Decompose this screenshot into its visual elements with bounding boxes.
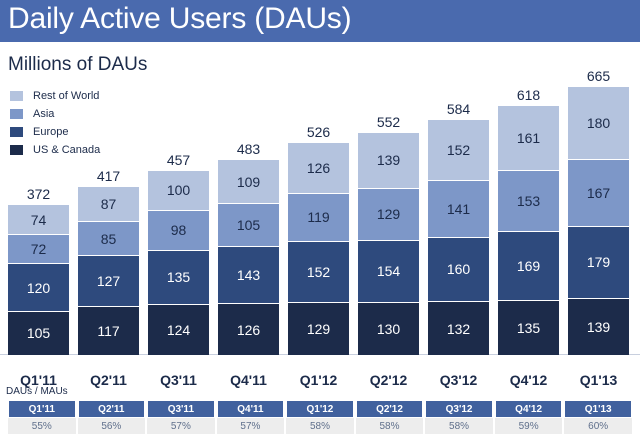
bar-segment: 135	[498, 301, 559, 355]
bar-segment: 169	[498, 232, 559, 300]
bar-total-label: 665	[568, 68, 629, 84]
bar-stack: 180167179139	[568, 87, 629, 355]
bar-segment: 87	[78, 187, 139, 222]
bar-stack: 8785127117	[78, 187, 139, 355]
x-axis-tick-label: Q3'12	[428, 372, 489, 388]
bar-segment-value: 139	[587, 320, 610, 334]
bar-segment-value: 87	[101, 197, 117, 211]
bar-group: 3727472120105	[8, 42, 69, 355]
bar-segment: 160	[428, 238, 489, 302]
bar-segment: 72	[8, 235, 69, 264]
table-cell-ratio: 57%	[217, 418, 285, 434]
bar-segment-value: 152	[307, 265, 330, 279]
x-axis-tick-label: Q1'12	[288, 372, 349, 388]
bar-segment-value: 120	[27, 281, 50, 295]
bar-segment-value: 129	[377, 207, 400, 221]
bar-total-label: 526	[288, 124, 349, 140]
bar-segment: 85	[78, 222, 139, 256]
bar-segment-value: 139	[377, 153, 400, 167]
table-column-header: Q3'12	[425, 400, 493, 418]
bar-segment: 117	[78, 307, 139, 354]
bar-segment-value: 100	[167, 183, 190, 197]
bar-segment-value: 169	[517, 259, 540, 273]
bar-segment: 127	[78, 256, 139, 307]
bar-segment-value: 117	[97, 324, 119, 338]
bar-total-label: 584	[428, 101, 489, 117]
bar-segment-value: 126	[237, 323, 260, 337]
bar-segment-value: 98	[171, 223, 187, 237]
bar-segment: 180	[568, 87, 629, 160]
table-column-header: Q1'13	[564, 400, 632, 418]
bar-segment: 139	[358, 133, 419, 189]
bar-stack: 10098135124	[148, 171, 209, 355]
x-axis-labels: Q1'11Q2'11Q3'11Q4'11Q1'12Q2'12Q3'12Q4'12…	[0, 372, 640, 388]
table-cell-ratio: 58%	[286, 418, 354, 434]
bar-segment-value: 143	[237, 268, 260, 282]
dau-mau-ratio-table: Q1'11Q2'11Q3'11Q4'11Q1'12Q2'12Q3'12Q4'12…	[6, 400, 634, 434]
bar-group: 665180167179139	[568, 42, 629, 355]
bar-segment: 124	[148, 305, 209, 355]
bar-group: 584152141160132	[428, 42, 489, 355]
ratio-caption: DAUs / MAUs	[6, 386, 68, 397]
table-column-header: Q2'11	[78, 400, 146, 418]
bar-segment-value: 124	[167, 323, 190, 337]
bar-segment-value: 85	[101, 232, 117, 246]
table-cell-ratio: 59%	[495, 418, 563, 434]
table-cell-ratio: 58%	[425, 418, 493, 434]
title-bar: Daily Active Users (DAUs)	[0, 0, 640, 42]
bar-group: 45710098135124	[148, 42, 209, 355]
table-cell-ratio: 57%	[147, 418, 215, 434]
bar-segment: 119	[288, 194, 349, 242]
bar-stack: 109105143126	[218, 160, 279, 355]
bar-segment: 139	[568, 299, 629, 355]
bar-group: 4178785127117	[78, 42, 139, 355]
bar-segment-value: 167	[587, 186, 610, 200]
table-column-header: Q4'12	[495, 400, 563, 418]
bar-segment: 98	[148, 211, 209, 250]
bar-segment: 141	[428, 181, 489, 238]
bar-total-label: 552	[358, 114, 419, 130]
chart-area: Millions of DAUs Rest of WorldAsiaEurope…	[0, 42, 640, 372]
bar-stack: 139129154130	[358, 133, 419, 355]
bar-segment: 130	[358, 303, 419, 355]
bar-segment: 126	[288, 143, 349, 194]
bar-segment: 143	[218, 247, 279, 305]
bar-segment-value: 130	[377, 322, 400, 336]
bar-group: 618161153169135	[498, 42, 559, 355]
bar-segment: 152	[428, 120, 489, 181]
bar-segment-value: 135	[517, 321, 540, 335]
bar-segment: 152	[288, 242, 349, 303]
table-cell-ratio: 58%	[356, 418, 424, 434]
bar-total-label: 618	[498, 87, 559, 103]
bar-segment: 132	[428, 302, 489, 355]
bar-segment-value: 154	[377, 264, 400, 278]
bar-segment-value: 179	[587, 255, 610, 269]
x-axis-tick-label: Q3'11	[148, 372, 209, 388]
bar-segment: 120	[8, 264, 69, 312]
bar-total-label: 457	[148, 152, 209, 168]
bar-segment: 179	[568, 227, 629, 299]
bar-group: 526126119152129	[288, 42, 349, 355]
bar-group: 552139129154130	[358, 42, 419, 355]
bar-total-label: 483	[218, 141, 279, 157]
bar-total-label: 372	[8, 186, 69, 202]
x-axis-tick-label: Q2'11	[78, 372, 139, 388]
bar-segment: 126	[218, 304, 279, 355]
bar-segment-value: 152	[447, 143, 470, 157]
bar-segment: 74	[8, 205, 69, 235]
bar-segment: 100	[148, 171, 209, 211]
bar-segment: 135	[148, 251, 209, 305]
bar-total-label: 417	[78, 168, 139, 184]
bar-stack: 126119152129	[288, 143, 349, 355]
bar-segment-value: 105	[237, 218, 260, 232]
table-column-header: Q1'11	[8, 400, 76, 418]
table-column-header: Q1'12	[286, 400, 354, 418]
bar-segment-value: 135	[167, 270, 190, 284]
bar-segment-value: 141	[447, 202, 470, 216]
bar-segment: 153	[498, 171, 559, 233]
bar-stack: 7472120105	[8, 205, 69, 355]
table-cell-ratio: 60%	[564, 418, 632, 434]
bar-segment-value: 132	[447, 322, 470, 336]
bar-segment: 154	[358, 241, 419, 303]
bar-segment-value: 126	[307, 161, 330, 175]
bar-segment-value: 119	[307, 210, 329, 224]
page-title: Daily Active Users (DAUs)	[8, 2, 351, 36]
bar-segment-value: 74	[31, 213, 47, 227]
table-column-header: Q4'11	[217, 400, 285, 418]
bar-segment-value: 72	[31, 242, 47, 256]
table-cell-ratio: 55%	[8, 418, 76, 434]
bar-segment-value: 109	[237, 175, 260, 189]
x-axis-tick-label: Q1'13	[568, 372, 629, 388]
bar-segment: 129	[358, 189, 419, 241]
bar-segment: 105	[218, 204, 279, 246]
bar-segment-value: 180	[587, 116, 610, 130]
table-column-header: Q2'12	[356, 400, 424, 418]
bar-stack: 152141160132	[428, 120, 489, 355]
bar-segment: 105	[8, 312, 69, 354]
bar-group: 483109105143126	[218, 42, 279, 355]
bar-segment: 129	[288, 303, 349, 355]
bar-segment-value: 105	[27, 326, 50, 340]
bar-segment-value: 127	[97, 274, 120, 288]
stacked-bar-plot: 3727472120105417878512711745710098135124…	[0, 42, 640, 355]
table-row: 55%56%57%57%58%58%58%59%60%	[8, 418, 632, 434]
bar-stack: 161153169135	[498, 106, 559, 355]
bar-segment: 109	[218, 160, 279, 204]
table-column-header: Q3'11	[147, 400, 215, 418]
bar-segment-value: 153	[517, 194, 540, 208]
bar-segment-value: 161	[517, 131, 540, 145]
bar-segment-value: 129	[307, 322, 330, 336]
x-axis-tick-label: Q2'12	[358, 372, 419, 388]
bar-segment: 167	[568, 160, 629, 227]
bar-segment-value: 160	[447, 262, 470, 276]
x-axis-tick-label: Q4'12	[498, 372, 559, 388]
table-cell-ratio: 56%	[78, 418, 146, 434]
x-axis-tick-label: Q4'11	[218, 372, 279, 388]
table-header-row: Q1'11Q2'11Q3'11Q4'11Q1'12Q2'12Q3'12Q4'12…	[8, 400, 632, 418]
bar-segment: 161	[498, 106, 559, 171]
